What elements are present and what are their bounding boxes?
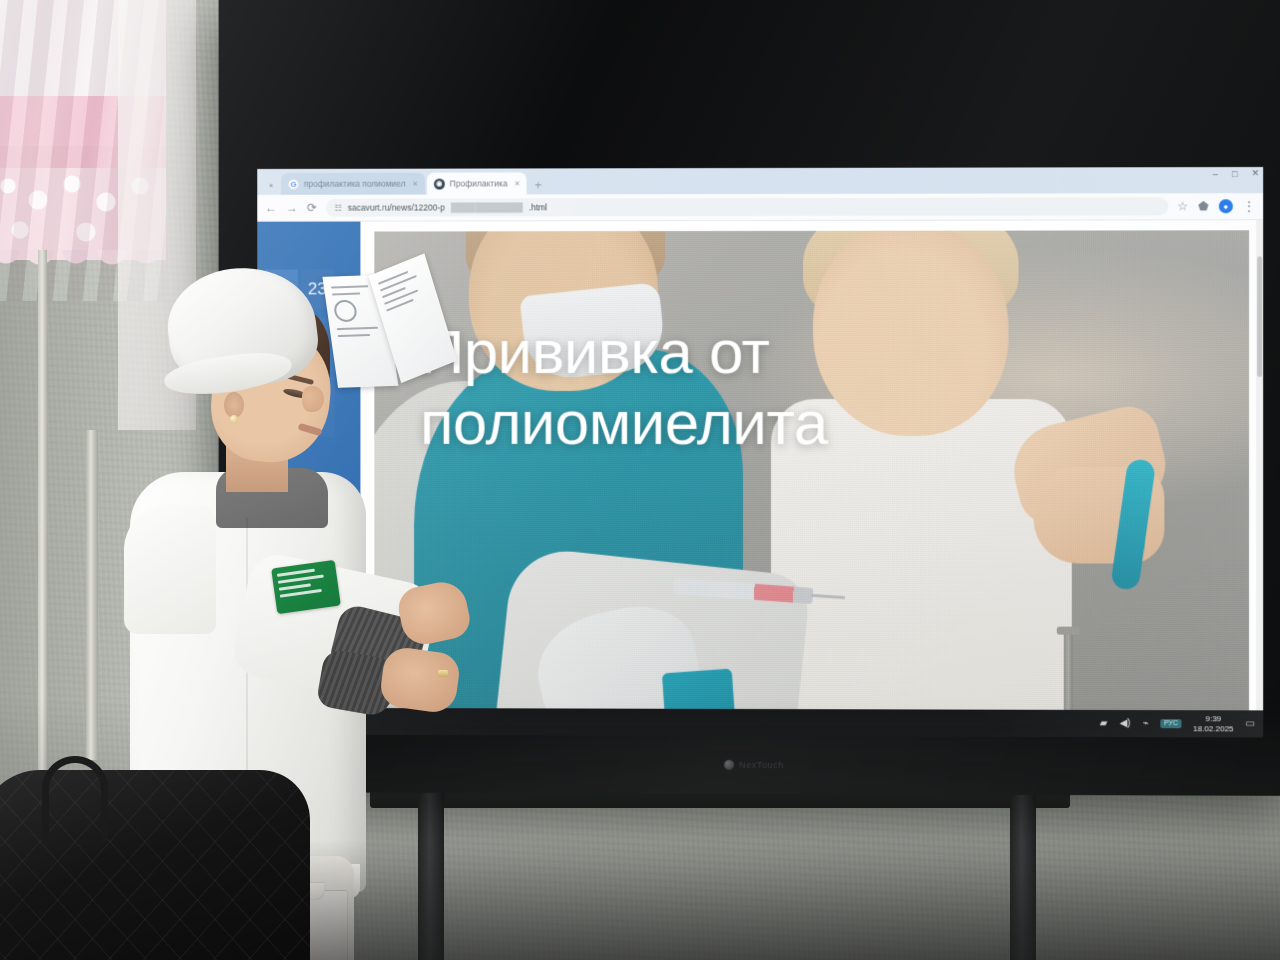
photo-grain bbox=[374, 230, 1249, 724]
person-name-badge bbox=[271, 560, 341, 614]
back-icon[interactable]: ← bbox=[265, 202, 277, 214]
browser-tab-1[interactable]: G профилактика полиомиел × bbox=[281, 173, 425, 195]
url-text: sacavurt.ru/news/12200-p bbox=[348, 203, 445, 213]
window-controls[interactable]: – □ ✕ bbox=[1213, 168, 1259, 179]
chrome-menu-icon[interactable]: ⋮ bbox=[1243, 200, 1255, 212]
bookmark-star-icon[interactable]: ☆ bbox=[1177, 200, 1188, 212]
tab-close-icon[interactable]: × bbox=[514, 178, 519, 188]
person-ring bbox=[438, 670, 448, 677]
profile-avatar-icon[interactable]: ● bbox=[1219, 199, 1233, 213]
url-text-blurred: ████████████ bbox=[451, 202, 523, 212]
slide-title: Прививка от полиомиелита bbox=[420, 317, 1060, 460]
close-icon[interactable]: ✕ bbox=[1252, 168, 1260, 179]
slide-title-line-1: Прививка от bbox=[420, 317, 1060, 389]
person-shoulder bbox=[124, 504, 216, 634]
article-body: Прививка от полиомиелита bbox=[360, 220, 1263, 737]
extensions-puzzle-icon[interactable]: ⬟ bbox=[1198, 200, 1209, 212]
scrollbar-thumb[interactable] bbox=[1257, 256, 1262, 377]
tab-title: профилактика полиомиел bbox=[304, 179, 406, 189]
maximize-icon[interactable]: □ bbox=[1232, 169, 1237, 179]
page-scrollbar[interactable] bbox=[1256, 220, 1263, 737]
site-favicon-icon: ◉ bbox=[434, 178, 445, 189]
toolbar-actions[interactable]: ☆ ⬟ ● ⋮ bbox=[1177, 199, 1255, 213]
tab-title: Профилактика bbox=[450, 178, 508, 188]
site-info-icon[interactable]: ☷ bbox=[335, 203, 342, 212]
url-suffix: .html bbox=[529, 202, 547, 212]
tab-search-icon[interactable]: × bbox=[263, 177, 279, 195]
bag-handle bbox=[42, 756, 108, 842]
minimize-icon[interactable]: – bbox=[1213, 169, 1218, 179]
slide-title-line-2: полиомиелита bbox=[420, 388, 1060, 459]
person-earring bbox=[230, 415, 238, 423]
person-nose bbox=[302, 386, 324, 412]
new-tab-button[interactable]: + bbox=[529, 178, 548, 194]
forward-icon[interactable]: → bbox=[286, 202, 298, 214]
article-hero-image: Прививка от полиомиелита bbox=[374, 230, 1249, 724]
tab-close-icon[interactable]: × bbox=[413, 179, 418, 189]
room-scene: NexTouch × G профилактика полиомиел × ◉ … bbox=[0, 0, 1280, 960]
google-g-icon: G bbox=[288, 178, 299, 189]
browser-toolbar[interactable]: ← → ⟳ ☷ sacavurt.ru/news/12200-p████████… bbox=[257, 193, 1263, 222]
address-bar[interactable]: ☷ sacavurt.ru/news/12200-p████████████.h… bbox=[326, 197, 1168, 216]
reload-icon[interactable]: ⟳ bbox=[307, 202, 317, 214]
browser-tabstrip[interactable]: × G профилактика полиомиел × ◉ Профилакт… bbox=[257, 167, 1263, 195]
leaflet-graphic bbox=[333, 300, 358, 323]
wall-pipe bbox=[86, 430, 98, 760]
browser-tab-2[interactable]: ◉ Профилактика × bbox=[427, 172, 527, 194]
person-hand-lower bbox=[378, 645, 462, 715]
